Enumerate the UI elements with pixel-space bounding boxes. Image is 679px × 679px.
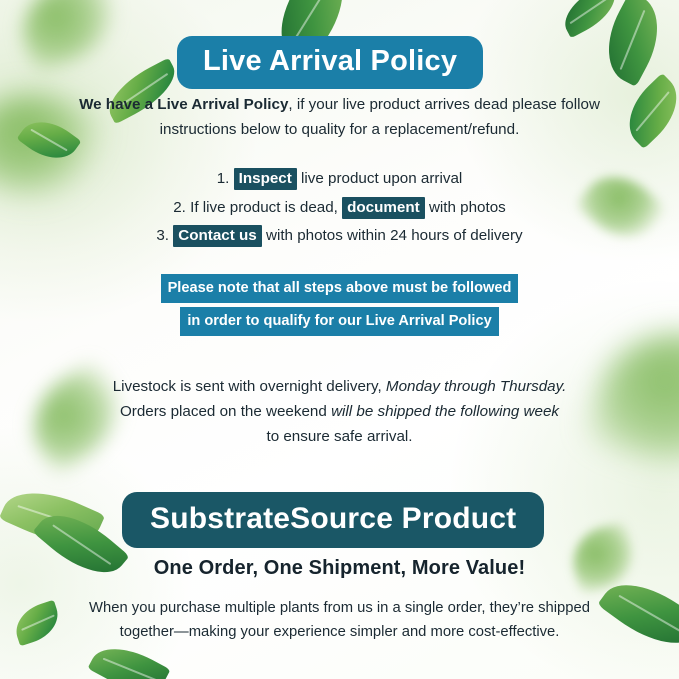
shipping-line-3: to ensure safe arrival. (0, 424, 679, 449)
shipping-paragraph: Livestock is sent with overnight deliver… (0, 374, 679, 449)
step-after-text: live product upon arrival (301, 170, 462, 187)
step-number: 3. (156, 227, 169, 244)
policy-infographic: Live Arrival Policy We have a Live Arriv… (0, 0, 679, 679)
shipping-line-1: Livestock is sent with overnight deliver… (0, 374, 679, 399)
step-highlight: document (342, 197, 425, 219)
step-number: 2. (173, 199, 186, 216)
policy-steps-list: 1. Inspect live product upon arrival 2. … (0, 165, 679, 251)
note-line-1: Please note that all steps above must be… (161, 274, 519, 303)
shipping-line-1-plain: Livestock is sent with overnight deliver… (113, 378, 382, 395)
step-before-text: If live product is dead, (190, 199, 338, 216)
step-highlight: Inspect (234, 168, 297, 190)
intro-rest: , if your live product arrives dead plea… (288, 96, 600, 113)
live-arrival-policy-banner: Live Arrival Policy (177, 36, 483, 89)
note-row-1: Please note that all steps above must be… (0, 274, 679, 303)
content-area: Live Arrival Policy We have a Live Arriv… (0, 0, 679, 679)
shipping-line-2: Orders placed on the weekend will be shi… (0, 399, 679, 424)
intro-paragraph: We have a Live Arrival Policy, if your l… (0, 92, 679, 142)
list-item: 1. Inspect live product upon arrival (0, 165, 679, 194)
step-highlight: Contact us (173, 225, 261, 247)
intro-line-1: We have a Live Arrival Policy, if your l… (0, 92, 679, 117)
product-body-line-1: When you purchase multiple plants from u… (0, 596, 679, 620)
note-line-2: in order to qualify for our Live Arrival… (180, 307, 498, 336)
shipping-line-2-italic: will be shipped the following week (331, 403, 559, 420)
policy-note-block: Please note that all steps above must be… (0, 274, 679, 340)
shipping-line-2-plain: Orders placed on the weekend (120, 403, 327, 420)
list-item: 3. Contact us with photos within 24 hour… (0, 222, 679, 251)
product-subheading: One Order, One Shipment, More Value! (0, 557, 679, 580)
step-after-text: with photos within 24 hours of delivery (266, 227, 523, 244)
note-row-2: in order to qualify for our Live Arrival… (0, 307, 679, 336)
intro-line-2: instructions below to quality for a repl… (0, 117, 679, 142)
step-after-text: with photos (429, 199, 506, 216)
shipping-line-1-italic: Monday through Thursday. (386, 378, 566, 395)
list-item: 2. If live product is dead, document wit… (0, 194, 679, 223)
step-number: 1. (217, 170, 230, 187)
product-body-paragraph: When you purchase multiple plants from u… (0, 596, 679, 644)
substratesource-product-banner: SubstrateSource Product (122, 492, 544, 548)
product-body-line-2: together—making your experience simpler … (0, 620, 679, 644)
intro-lead-bold: We have a Live Arrival Policy (79, 96, 288, 113)
